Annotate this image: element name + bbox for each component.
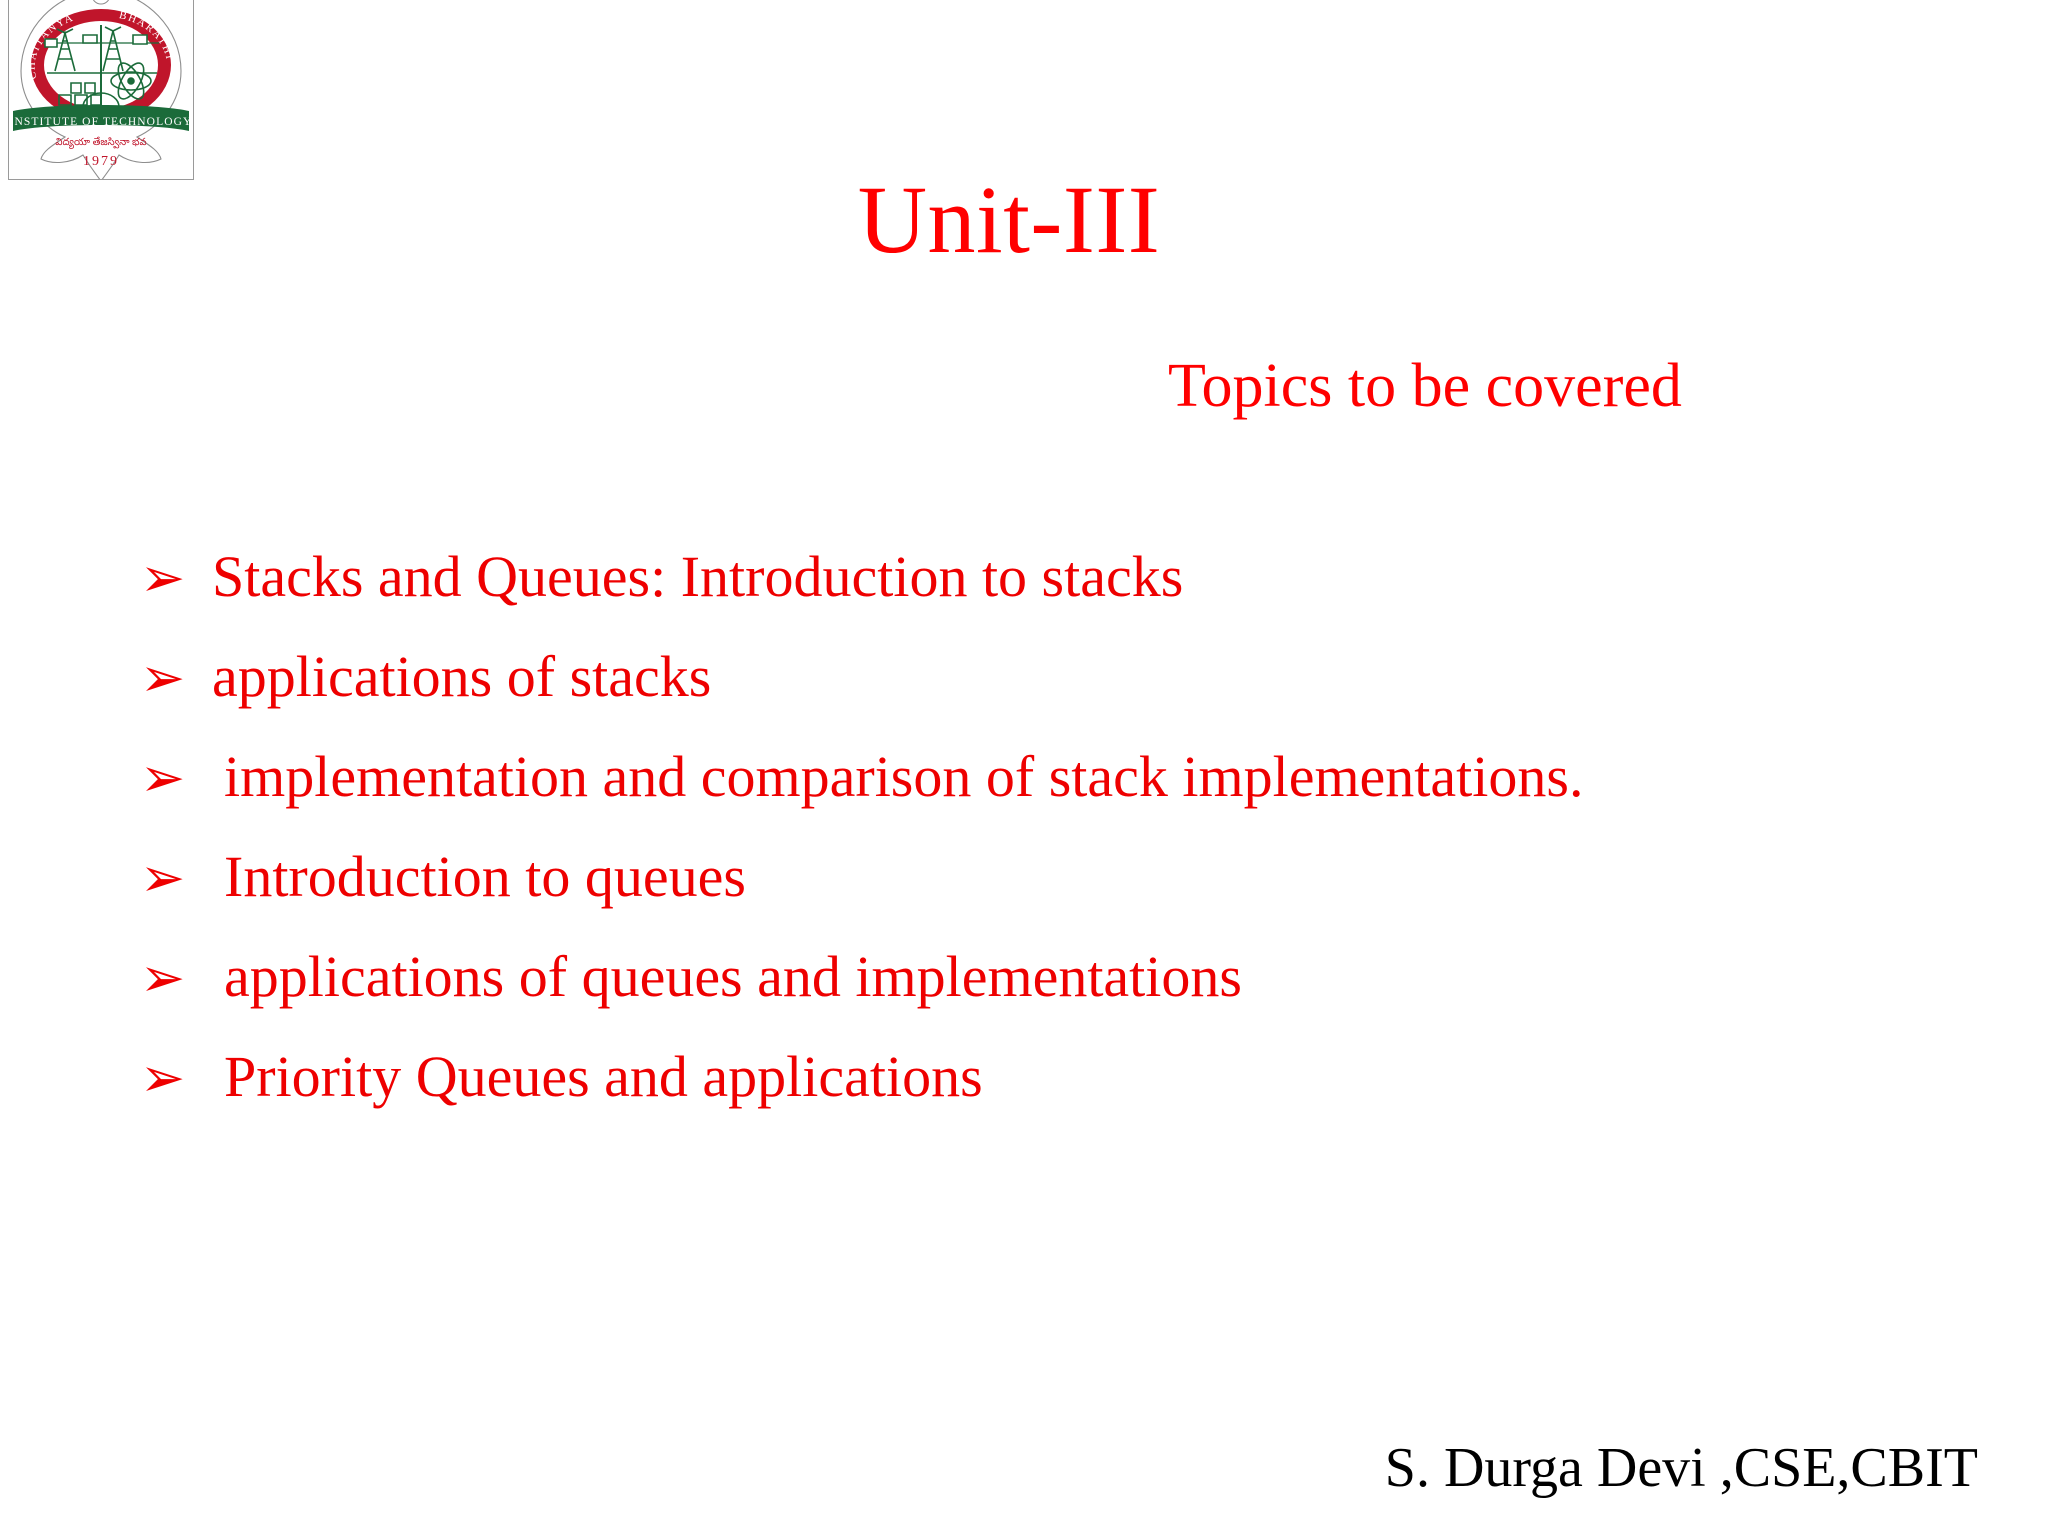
arrow-bullet-icon: ➢ — [140, 1051, 212, 1105]
list-item-label: implementation and comparison of stack i… — [212, 748, 1583, 806]
list-item: ➢ Priority Queues and applications — [140, 1048, 2000, 1148]
slide-title-text: Unit-III — [858, 172, 1161, 268]
svg-text:INSTITUTE OF TECHNOLOGY: INSTITUTE OF TECHNOLOGY — [10, 116, 193, 128]
list-item: ➢ Introduction to queues — [140, 848, 2000, 948]
author-footer: S. Durga Devi ,CSE,CBIT — [0, 1440, 2048, 1496]
list-item-label: Priority Queues and applications — [212, 1048, 983, 1106]
slide-canvas: TM CHAITANYA BHARATHI — [0, 0, 2048, 1536]
list-item-label: Stacks and Queues: Introduction to stack… — [212, 548, 1183, 606]
arrow-bullet-icon: ➢ — [140, 751, 212, 805]
slide-title: Unit-III — [0, 172, 2048, 268]
list-item: ➢ applications of stacks — [140, 648, 2000, 748]
logo-icon: TM CHAITANYA BHARATHI — [9, 0, 193, 179]
svg-text:విద్యయా తేజస్వినా భవ: విద్యయా తేజస్వినా భవ — [55, 136, 146, 149]
arrow-bullet-icon: ➢ — [140, 951, 212, 1005]
arrow-bullet-icon: ➢ — [140, 651, 212, 705]
list-item: ➢ applications of queues and implementat… — [140, 948, 2000, 1048]
svg-text:1979: 1979 — [83, 154, 119, 169]
institution-logo: TM CHAITANYA BHARATHI — [8, 0, 194, 180]
list-item-label: applications of queues and implementatio… — [212, 948, 1242, 1006]
list-item-label: Introduction to queues — [212, 848, 746, 906]
list-item: ➢ implementation and comparison of stack… — [140, 748, 2000, 848]
topics-list: ➢ Stacks and Queues: Introduction to sta… — [140, 548, 2000, 1148]
arrow-bullet-icon: ➢ — [140, 551, 212, 605]
list-item-label: applications of stacks — [212, 648, 711, 706]
arrow-bullet-icon: ➢ — [140, 851, 212, 905]
list-item: ➢ Stacks and Queues: Introduction to sta… — [140, 548, 2000, 648]
slide-subtitle: Topics to be covered — [1168, 355, 1682, 417]
